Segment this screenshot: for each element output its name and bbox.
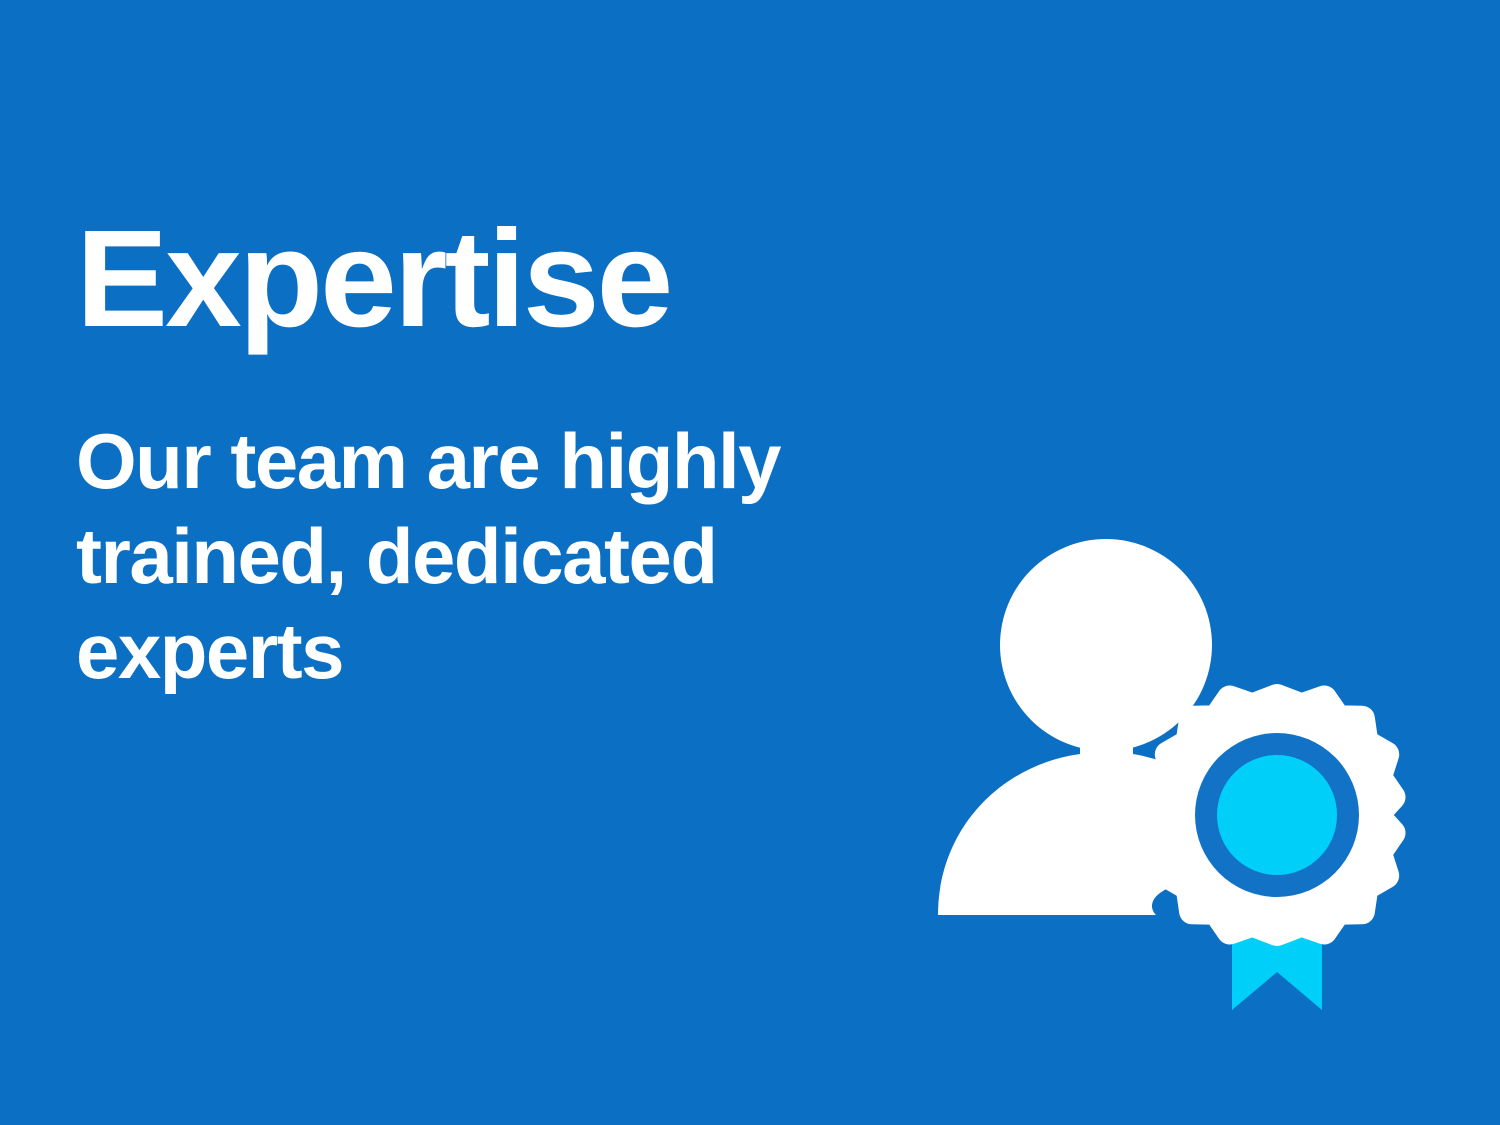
page-title: Expertise xyxy=(76,210,936,348)
text-block: Expertise Our team are highly trained, d… xyxy=(76,210,936,699)
award-center-icon xyxy=(1217,755,1337,875)
award-rosette-icon xyxy=(1162,697,1393,933)
subtitle-text: Our team are highly trained, dedicated e… xyxy=(76,348,896,699)
expert-person-award-icon xyxy=(905,500,1425,1040)
slide-expertise: Expertise Our team are highly trained, d… xyxy=(0,0,1500,1125)
